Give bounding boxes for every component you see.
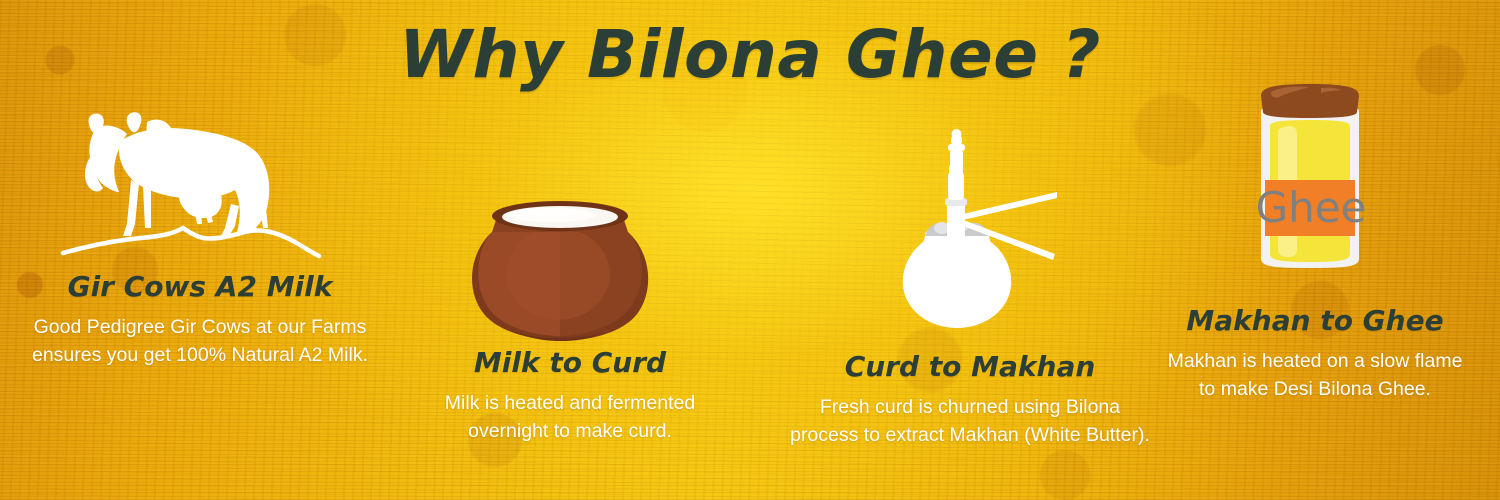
step-description-line2: process to extract Makhan (White Butter)… (740, 421, 1200, 449)
cow-silhouette-icon (55, 108, 325, 268)
clay-pot-icon (462, 196, 658, 341)
step-description-line1: Milk is heated and fermented (380, 389, 760, 417)
step-description: Makhan is heated on a slow flame to make… (1130, 347, 1500, 404)
step-gir-cows-a2-milk: Gir Cows A2 Milk Good Pedigree Gir Cows … (0, 272, 400, 369)
page-title: Why Bilona Ghee ? (0, 22, 1500, 88)
step-description-line1: Makhan is heated on a slow flame (1130, 347, 1500, 375)
step-milk-to-curd: Milk to Curd Milk is heated and fermente… (380, 348, 760, 445)
jar-label-text: Ghee (1256, 183, 1367, 232)
step-description-line1: Good Pedigree Gir Cows at our Farms (0, 313, 400, 341)
step-description-line2: overnight to make curd. (380, 417, 760, 445)
ghee-jar-icon: Ghee (1245, 82, 1375, 272)
step-description-line2: ensures you get 100% Natural A2 Milk. (0, 341, 400, 369)
step-description: Milk is heated and fermented overnight t… (380, 389, 760, 446)
step-makhan-to-ghee: Makhan to Ghee Makhan is heated on a slo… (1130, 306, 1500, 403)
step-description: Good Pedigree Gir Cows at our Farms ensu… (0, 313, 400, 370)
step-heading: Milk to Curd (380, 348, 760, 379)
step-heading: Makhan to Ghee (1130, 306, 1500, 337)
bilona-ghee-banner: Why Bilona Ghee ? (0, 0, 1500, 500)
step-heading: Gir Cows A2 Milk (0, 272, 400, 303)
step-description-line2: to make Desi Bilona Ghee. (1130, 375, 1500, 403)
bilona-churner-icon (885, 128, 1060, 338)
